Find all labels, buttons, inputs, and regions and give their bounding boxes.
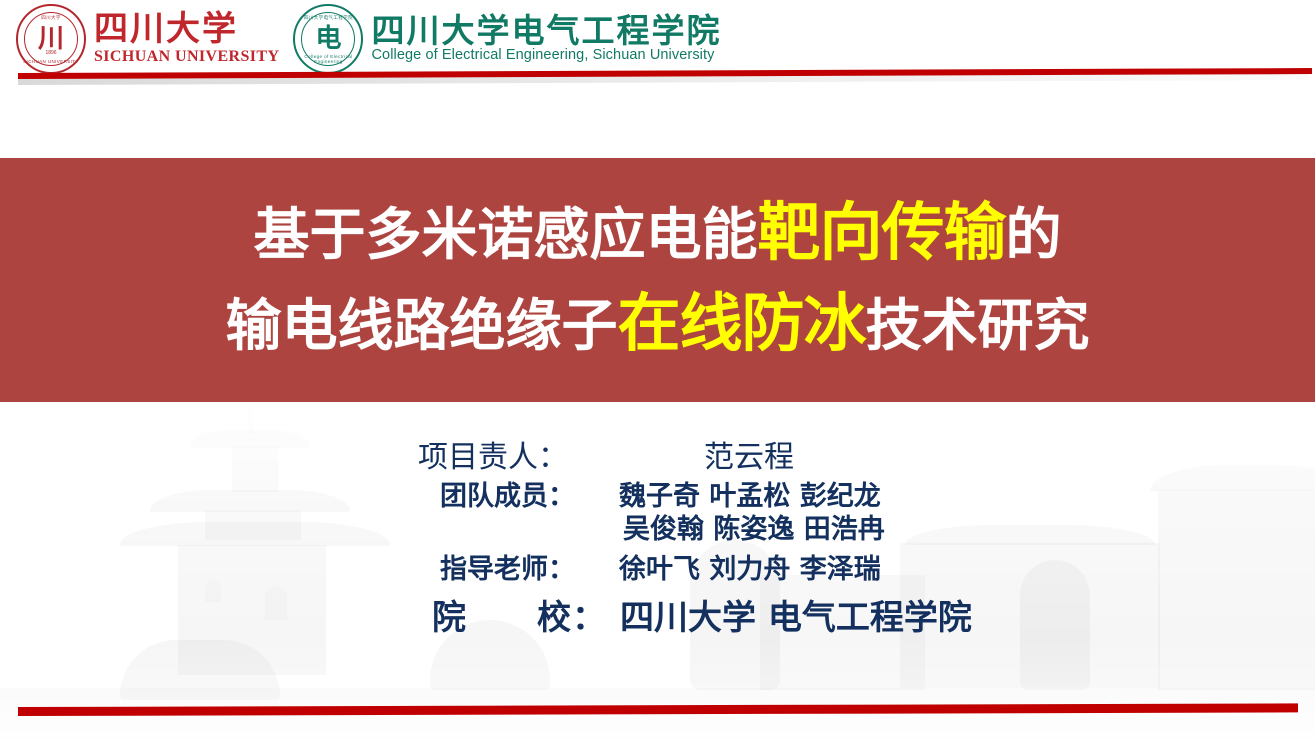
members-value-line-1: 魏子奇 叶孟松 彭纪龙: [619, 482, 881, 511]
info-row-leader: 项目责人： 范云程: [418, 442, 1315, 474]
title-line-1-part-1: 基于多米诺感应电能: [254, 203, 758, 268]
info-row-school: 院 校： 四川大学 电气工程学院: [432, 600, 1315, 637]
sichuan-university-seal-icon: 四川大学 川 1896 SICHUAN UNIVERSITY: [16, 4, 86, 74]
info-row-members-1: 团队成员： 魏子奇 叶孟松 彭纪龙: [440, 482, 1315, 511]
seal-year-text: 1896: [18, 50, 84, 56]
leader-label: 项目责人：: [418, 442, 608, 474]
seal-center-glyph: 川: [18, 26, 84, 52]
college-name-cn: 四川大学电气工程学院: [371, 14, 721, 49]
header-logos: 四川大学 川 1896 SICHUAN UNIVERSITY 四川大学 SICH…: [0, 0, 1315, 78]
info-row-advisors: 指导老师： 徐叶飞 刘力舟 李泽瑞: [440, 555, 1315, 584]
project-info-block: 项目责人： 范云程 团队成员： 魏子奇 叶孟松 彭纪龙 团队成员： 吴俊翰 陈姿…: [0, 440, 1315, 637]
seal-arc-bottom-text: College of Electrical Engineering: [295, 54, 361, 64]
advisors-value: 徐叶飞 刘力舟 李泽瑞: [619, 555, 881, 584]
title-line-1-part-2: 的: [1006, 203, 1062, 268]
seal-arc-top-text: 四川大学电气工程学院: [295, 15, 361, 21]
sichuan-university-name-en: SICHUAN UNIVERSITY: [94, 48, 279, 66]
logo-sichuan-university: 四川大学 川 1896 SICHUAN UNIVERSITY 四川大学 SICH…: [16, 4, 279, 74]
footer-red-bar: [18, 703, 1298, 716]
college-name-en: College of Electrical Engineering, Sichu…: [371, 48, 721, 64]
members-value-line-2: 吴俊翰 陈姿逸 田浩冉: [623, 515, 885, 544]
sichuan-university-name-cn: 四川大学: [94, 12, 279, 48]
title-slide: 四川大学 川 1896 SICHUAN UNIVERSITY 四川大学 SICH…: [0, 0, 1315, 740]
seal-arc-bottom-text: SICHUAN UNIVERSITY: [18, 59, 84, 64]
school-value: 四川大学 电气工程学院: [620, 600, 972, 637]
title-line-1-highlight: 靶向传输: [758, 196, 1006, 269]
title-line-1: 基于多米诺感应电能靶向传输的: [254, 189, 1062, 280]
leader-value: 范云程: [704, 442, 794, 474]
advisors-label: 指导老师：: [440, 555, 615, 584]
title-line-2: 输电线路绝缘子在线防冰技术研究: [226, 280, 1090, 371]
seal-arc-top-text: 四川大学: [18, 15, 84, 21]
members-label: 团队成员：: [440, 482, 615, 511]
title-band: 基于多米诺感应电能靶向传输的 输电线路绝缘子在线防冰技术研究: [0, 158, 1315, 402]
title-line-2-part-1: 输电线路绝缘子: [226, 294, 618, 359]
college-seal-icon: 四川大学电气工程学院 电 College of Electrical Engin…: [293, 4, 363, 74]
info-row-members-2: 团队成员： 吴俊翰 陈姿逸 田浩冉: [440, 515, 1315, 544]
title-line-2-part-2: 技术研究: [866, 294, 1090, 359]
title-line-2-highlight: 在线防冰: [618, 287, 866, 360]
seal-center-glyph: 电: [295, 26, 361, 52]
logo-college-of-electrical-engineering: 四川大学电气工程学院 电 College of Electrical Engin…: [293, 4, 721, 74]
school-label: 院 校：: [432, 600, 618, 637]
